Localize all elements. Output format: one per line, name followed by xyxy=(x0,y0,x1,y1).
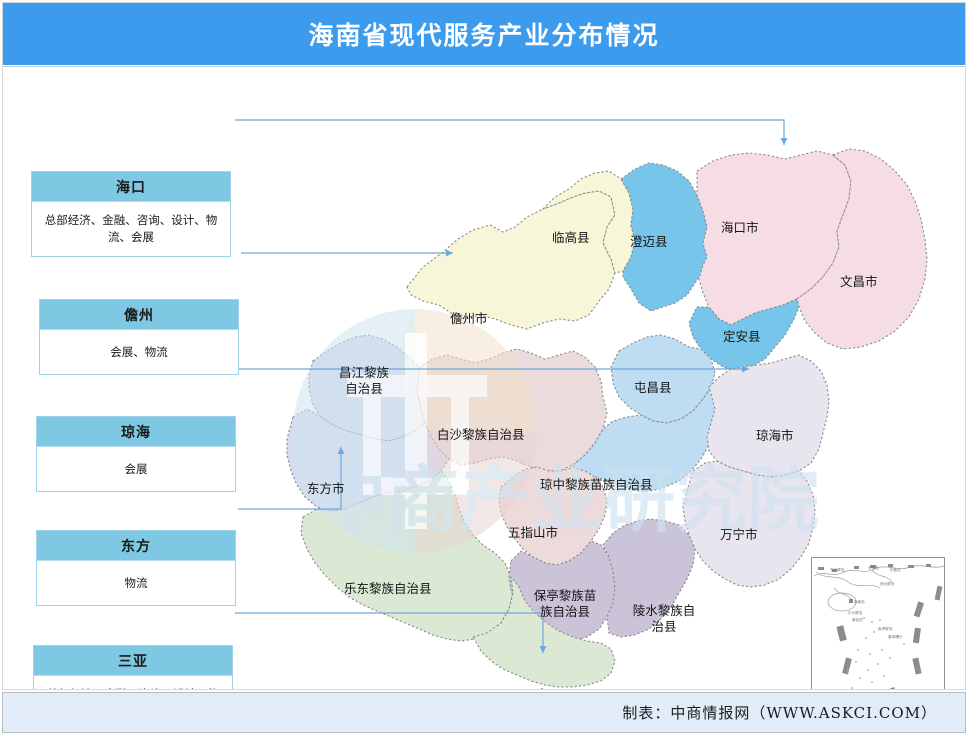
label-line: 琼中黎族苗族自治县 xyxy=(540,477,653,492)
callout-body-danzhou: 会展、物流 xyxy=(40,330,238,374)
callout-header-qionghai: 琼海 xyxy=(37,417,235,447)
callout-card-sanya[interactable]: 三亚 总部经济、金融、咨询、设计、物流、会展 xyxy=(33,645,233,690)
region-ledong xyxy=(301,471,513,641)
region-baisha xyxy=(417,349,607,471)
region-danzhou xyxy=(407,191,615,329)
connector-haikou xyxy=(235,120,784,145)
region-label-wuzhishan: 五指山市 xyxy=(508,525,558,541)
region-chengmai xyxy=(621,163,707,311)
map-body: 中商产业研究院 海口市 xyxy=(2,66,966,690)
svg-text:西沙群岛: 西沙群岛 xyxy=(880,581,895,586)
source-credit: 制表：中商情报网（WWW.ASKCI.COM） xyxy=(622,702,937,723)
callout-card-haikou[interactable]: 海口 总部经济、金融、咨询、设计、物流、会展 xyxy=(31,171,231,257)
label-line: 自治县 xyxy=(320,381,408,397)
page-title-bar: 海南省现代服务产业分布情况 xyxy=(2,2,966,65)
svg-text:钓鱼岛: 钓鱼岛 xyxy=(890,567,901,572)
region-label-baisha: 白沙黎族自治县 xyxy=(437,427,525,443)
region-label-wenchang: 文昌市 xyxy=(840,274,878,290)
connector-sanya xyxy=(235,613,543,653)
connector-dongfang xyxy=(238,447,341,509)
region-label-changjiang: 昌江黎族 自治县 xyxy=(320,365,408,397)
callout-header-dongfang: 东方 xyxy=(37,531,235,561)
callout-city-name: 琼海 xyxy=(121,422,151,442)
svg-text:南沙群岛: 南沙群岛 xyxy=(878,626,893,631)
region-haikou xyxy=(697,151,851,325)
label-line: 儋州市 xyxy=(450,311,488,326)
region-label-ledong: 乐东黎族自治县 xyxy=(344,581,432,597)
svg-text:台湾岛: 台湾岛 xyxy=(868,565,879,570)
callout-city-name: 儋州 xyxy=(124,305,154,325)
region-qiongzhong xyxy=(573,387,719,491)
label-line: 临高县 xyxy=(552,230,590,245)
region-label-baoting: 保亭黎族苗 族自治县 xyxy=(522,588,608,620)
callout-card-danzhou[interactable]: 儋州 会展、物流 xyxy=(39,299,239,375)
label-line: 文昌市 xyxy=(840,274,878,289)
label-line: 海口市 xyxy=(721,220,759,235)
region-dingan xyxy=(689,299,799,371)
region-dongfang xyxy=(287,409,449,511)
region-label-haikou: 海口市 xyxy=(721,220,759,236)
region-tunchang xyxy=(611,335,715,423)
region-qionghai xyxy=(707,355,829,477)
region-label-lingshui: 陵水黎族自 治县 xyxy=(621,603,707,635)
inset-map-graphic: 东沙群岛 台湾岛 钓鱼岛 西沙群岛 海南岛 中沙群岛 黄岩岛 南沙群岛 曾母暗沙… xyxy=(812,558,945,690)
watermark-text: 中商产业研究院 xyxy=(315,458,819,542)
label-line: 定安县 xyxy=(723,329,761,344)
callout-industries: 会展、物流 xyxy=(110,344,168,361)
callout-body-qionghai: 会展 xyxy=(37,447,235,491)
label-line: 三亚市 xyxy=(511,687,549,690)
region-sanya xyxy=(473,577,615,687)
region-label-chengmai: 澄迈县 xyxy=(630,234,668,250)
region-wanning xyxy=(683,461,815,587)
svg-text:中沙群岛: 中沙群岛 xyxy=(848,610,863,615)
svg-text:海南岛: 海南岛 xyxy=(854,599,865,604)
callout-body-haikou: 总部经济、金融、咨询、设计、物流、会展 xyxy=(32,202,230,256)
region-label-qionghai: 琼海市 xyxy=(756,428,794,444)
map-page: 海南省现代服务产业分布情况 xyxy=(0,0,968,735)
callout-industries: 物流 xyxy=(125,575,148,592)
region-lingao xyxy=(543,171,635,273)
callout-card-dongfang[interactable]: 东方 物流 xyxy=(36,530,236,606)
label-line: 东方市 xyxy=(307,481,345,496)
callout-city-name: 东方 xyxy=(121,536,151,556)
region-label-dingan: 定安县 xyxy=(723,329,761,345)
region-wuzhishan xyxy=(499,467,607,565)
callout-body-dongfang: 物流 xyxy=(37,561,235,605)
region-label-tunchang: 屯昌县 xyxy=(634,380,672,396)
region-lingshui xyxy=(603,519,695,637)
callout-industries: 总部经济、金融、咨询、设计、物流、会展 xyxy=(40,212,222,246)
label-line: 保亭黎族苗 xyxy=(522,588,608,604)
page-title: 海南省现代服务产业分布情况 xyxy=(308,16,659,52)
footer-bar: 制表：中商情报网（WWW.ASKCI.COM） xyxy=(2,692,966,733)
svg-text:东沙群岛: 东沙群岛 xyxy=(830,567,845,572)
label-line: 万宁市 xyxy=(720,527,758,542)
region-wenchang xyxy=(797,149,927,349)
label-line: 五指山市 xyxy=(508,525,558,540)
callout-card-qionghai[interactable]: 琼海 会展 xyxy=(36,416,236,492)
label-line: 族自治县 xyxy=(522,604,608,620)
callout-industries: 总部经济、金融、咨询、设计、物流、会展 xyxy=(42,686,224,690)
callout-header-sanya: 三亚 xyxy=(34,646,232,676)
label-line: 屯昌县 xyxy=(634,380,672,395)
callout-industries: 会展 xyxy=(125,461,148,478)
callout-header-danzhou: 儋州 xyxy=(40,300,238,330)
label-line: 昌江黎族 xyxy=(320,365,408,381)
label-line: 白沙黎族自治县 xyxy=(437,427,525,442)
inset-map-south-china-sea: 东沙群岛 台湾岛 钓鱼岛 西沙群岛 海南岛 中沙群岛 黄岩岛 南沙群岛 曾母暗沙… xyxy=(811,557,945,690)
region-label-lingao: 临高县 xyxy=(552,230,590,246)
label-line: 琼海市 xyxy=(756,428,794,443)
callout-header-haikou: 海口 xyxy=(32,172,230,202)
watermark-logo xyxy=(293,309,537,553)
region-baoting xyxy=(509,541,615,641)
svg-text:曾母暗沙: 曾母暗沙 xyxy=(888,634,903,639)
label-line: 治县 xyxy=(621,619,707,635)
region-changjiang xyxy=(309,335,425,441)
region-label-sanya: 三亚市 xyxy=(511,687,549,690)
region-label-qiongzhong: 琼中黎族苗族自治县 xyxy=(540,477,653,493)
region-label-dongfang: 东方市 xyxy=(307,481,345,497)
label-line: 澄迈县 xyxy=(630,234,668,249)
svg-text:黄岩岛: 黄岩岛 xyxy=(852,617,863,622)
callout-city-name: 三亚 xyxy=(118,651,148,671)
callout-city-name: 海口 xyxy=(116,177,146,197)
label-line: 陵水黎族自 xyxy=(621,603,707,619)
callout-body-sanya: 总部经济、金融、咨询、设计、物流、会展 xyxy=(34,676,232,690)
label-line: 乐东黎族自治县 xyxy=(344,581,432,596)
region-label-wanning: 万宁市 xyxy=(720,527,758,543)
region-label-danzhou: 儋州市 xyxy=(450,311,488,327)
